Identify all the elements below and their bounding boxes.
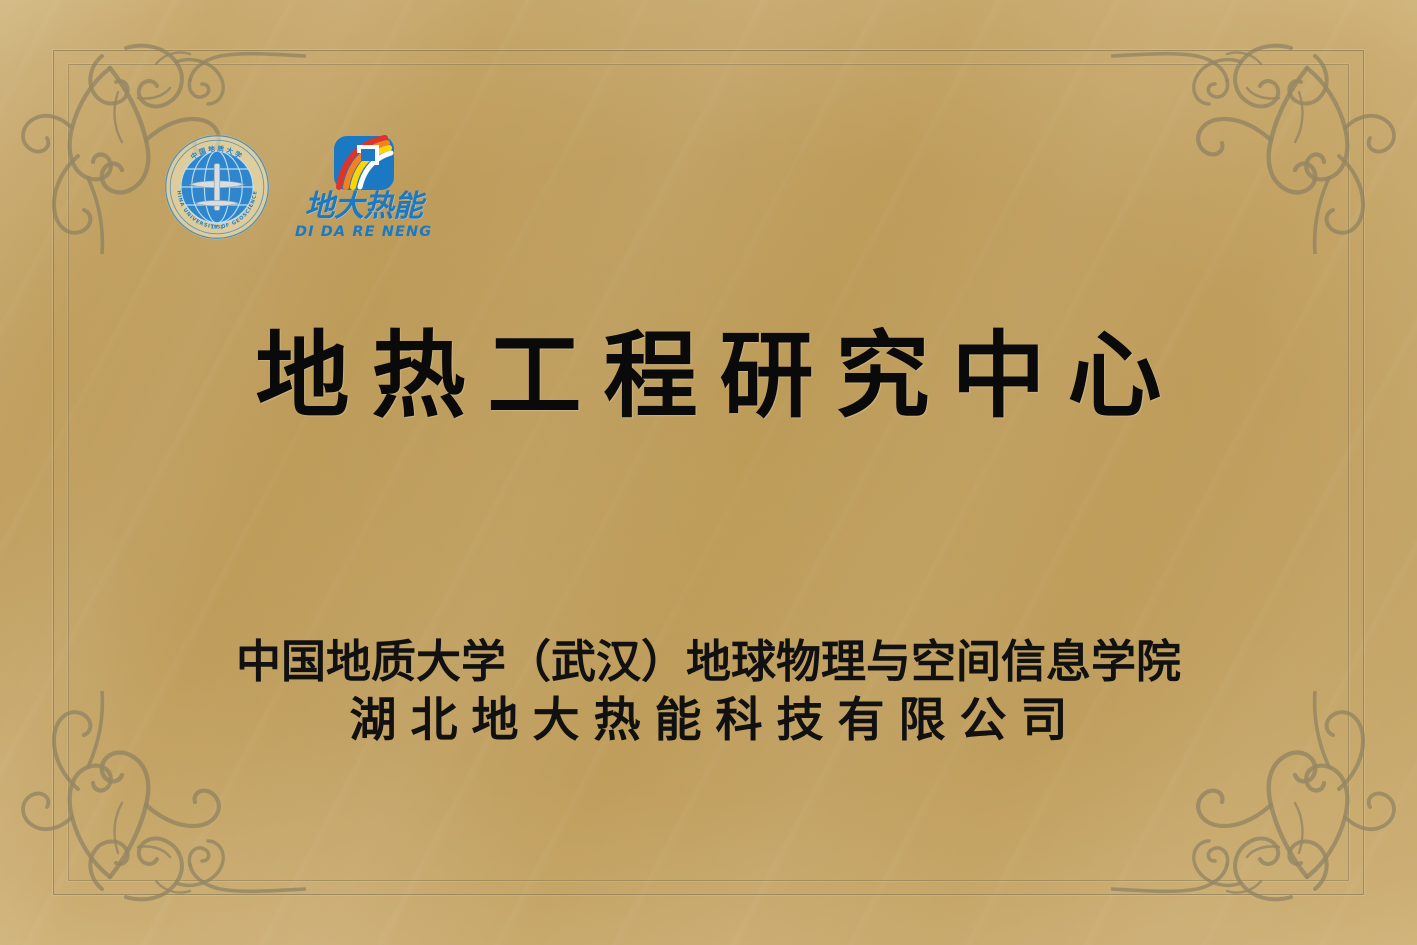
didareneng-logo: 地大热能 DI DA RE NENG <box>295 135 432 240</box>
logo-group: 中国地质大学 CHINA UNIVERSITY OF GEOSCIENCES 1… <box>163 133 432 241</box>
subtitle-line-company: 湖北地大热能科技有限公司 <box>0 693 1417 749</box>
cug-seal-icon: 中国地质大学 CHINA UNIVERSITY OF GEOSCIENCES 1… <box>163 133 271 241</box>
plaque-subtitle-block: 中国地质大学（武汉）地球物理与空间信息学院 湖北地大热能科技有限公司 <box>0 636 1417 750</box>
didareneng-en-text: DI DA RE NENG <box>295 224 432 240</box>
corner-ornament-top-right-icon <box>1111 4 1411 254</box>
subtitle-line-university: 中国地质大学（武汉）地球物理与空间信息学院 <box>0 636 1417 687</box>
plaque-root: 中国地质大学 CHINA UNIVERSITY OF GEOSCIENCES 1… <box>0 0 1417 945</box>
svg-text:1952: 1952 <box>211 224 224 230</box>
plaque-title: 地热工程研究中心 <box>0 330 1417 424</box>
didareneng-cn-text: 地大热能 <box>305 192 423 223</box>
didareneng-mark-icon <box>333 135 395 191</box>
